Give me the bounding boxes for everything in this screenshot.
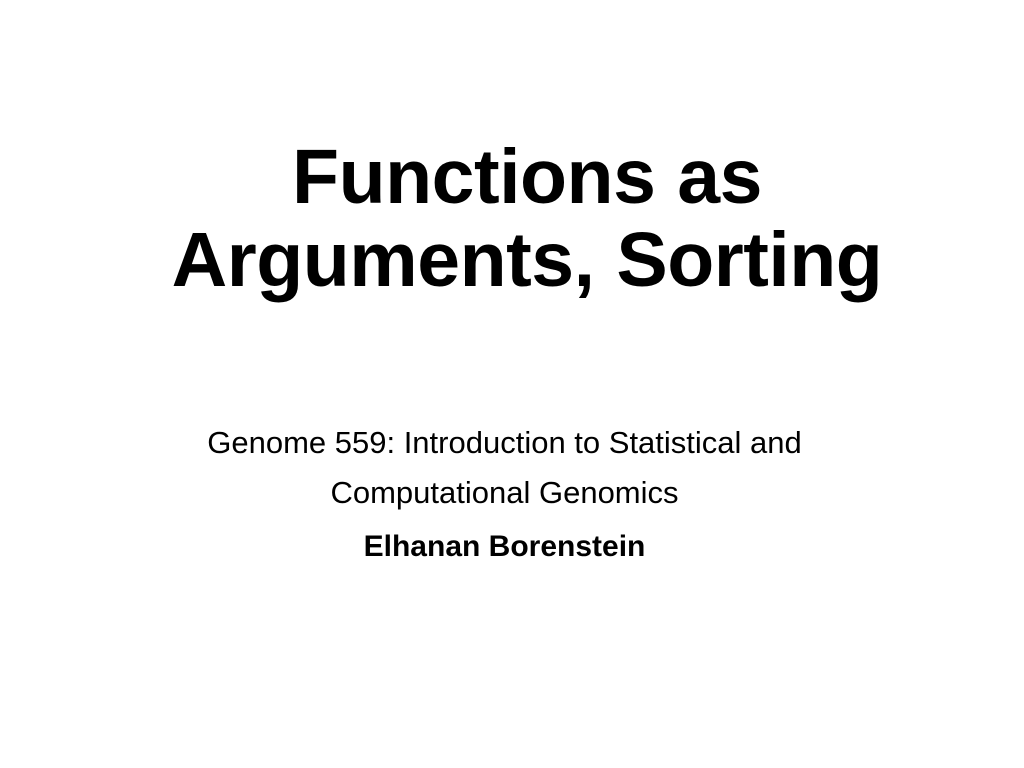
presentation-slide: Functions as Arguments, Sorting Genome 5… (0, 0, 1024, 768)
title-placeholder: Functions as Arguments, Sorting (72, 136, 982, 302)
subtitle-line-2: Computational Genomics (62, 468, 947, 518)
subtitle-line-1: Genome 559: Introduction to Statistical … (62, 418, 947, 468)
author-name: Elhanan Borenstein (62, 524, 947, 569)
subtitle-placeholder: Genome 559: Introduction to Statistical … (62, 418, 947, 569)
page-title: Functions as Arguments, Sorting (72, 136, 982, 302)
